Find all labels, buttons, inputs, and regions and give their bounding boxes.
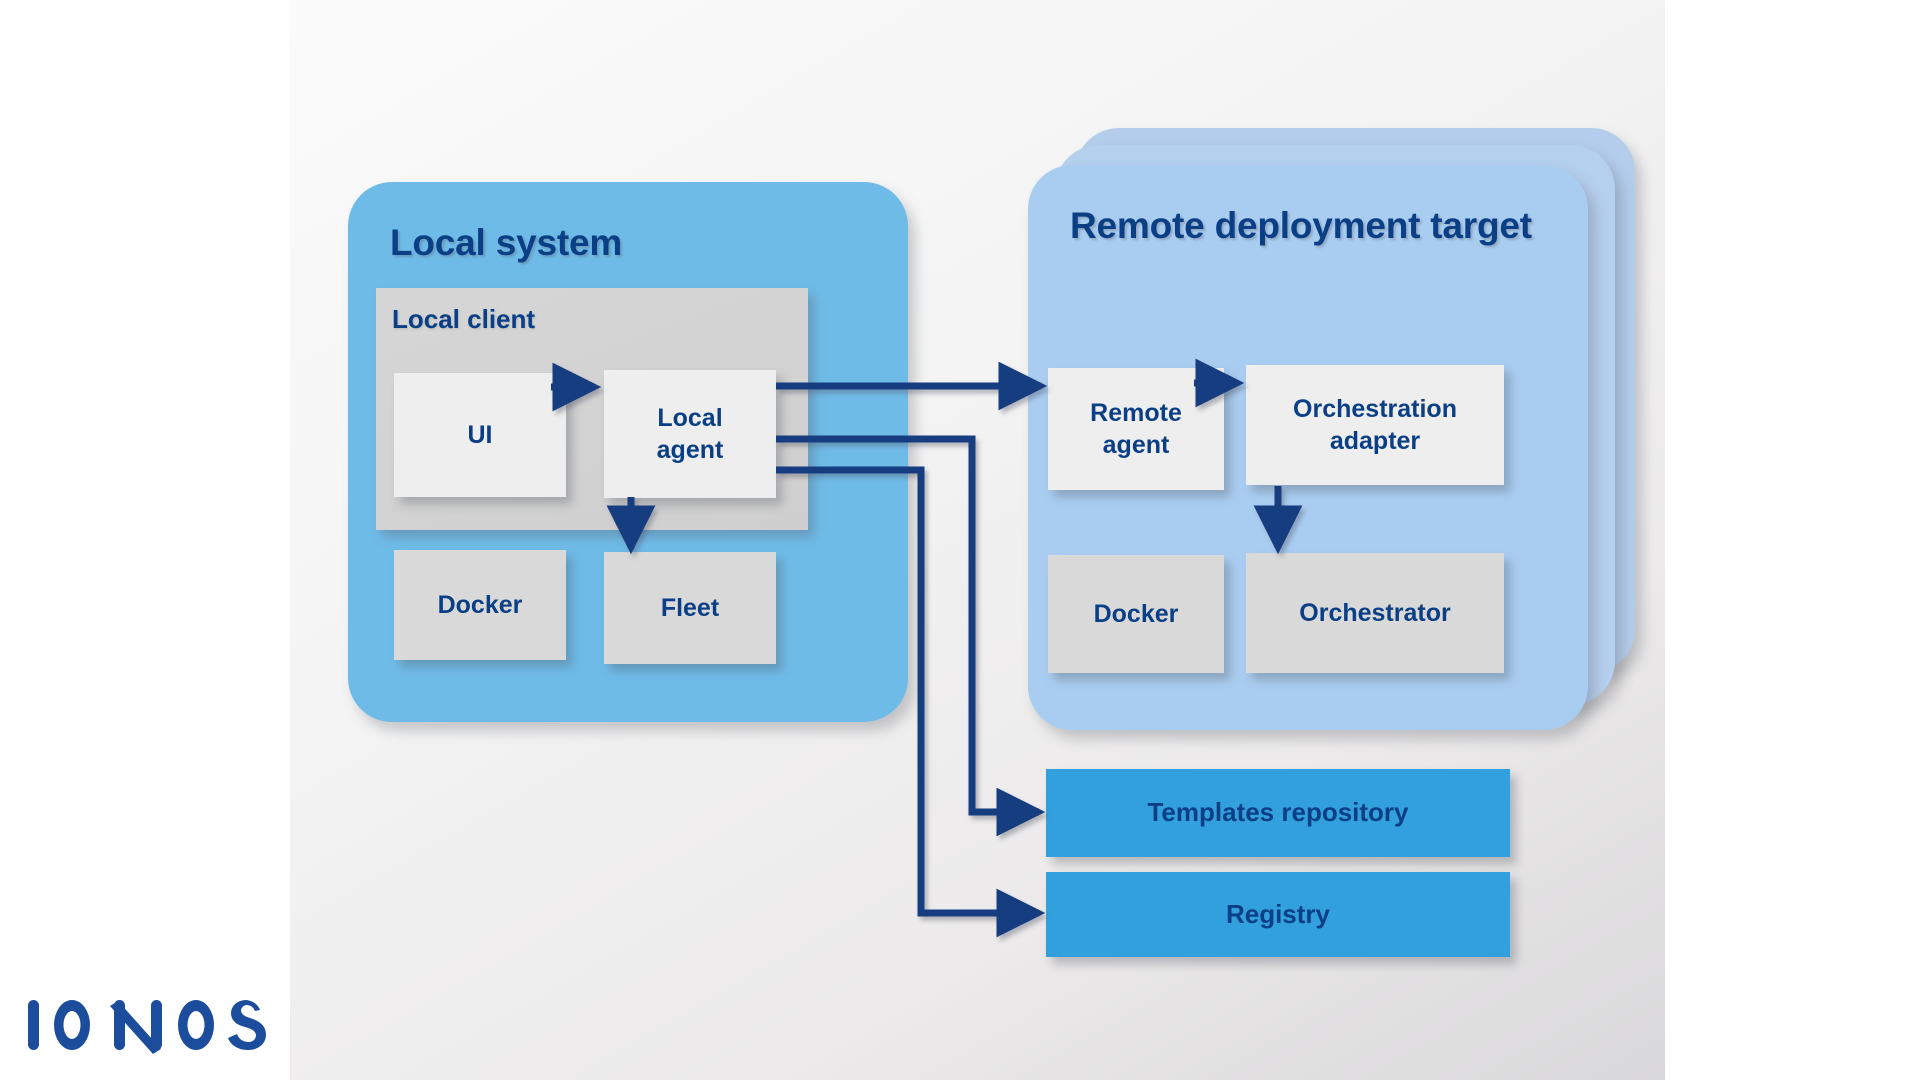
node-label-local-agent-line1: Local	[657, 404, 722, 432]
node-fleet[interactable]: Fleet	[604, 552, 776, 664]
node-label-local-agent: Local agent	[657, 402, 724, 466]
node-label-ui: UI	[468, 419, 493, 451]
node-label-orchestration-adapter-line1: Orchestration	[1293, 395, 1457, 423]
node-label-remote-agent-line2: agent	[1103, 431, 1170, 459]
node-label-templates-repository: Templates repository	[1147, 796, 1408, 829]
node-label-fleet: Fleet	[661, 592, 719, 624]
node-orchestrator[interactable]: Orchestrator	[1246, 553, 1504, 673]
subgroup-title-local-client: Local client	[392, 304, 535, 335]
node-ui[interactable]: UI	[394, 373, 566, 497]
node-label-docker-remote: Docker	[1094, 598, 1179, 630]
node-label-orchestrator: Orchestrator	[1299, 597, 1450, 629]
node-label-orchestration-adapter-line2: adapter	[1330, 427, 1420, 455]
ionos-logo	[26, 992, 266, 1058]
node-label-docker-local: Docker	[438, 589, 523, 621]
slide-canvas: Local system Remote deployment target Lo…	[0, 0, 1920, 1080]
node-docker-local[interactable]: Docker	[394, 550, 566, 660]
node-label-remote-agent-line1: Remote	[1090, 399, 1182, 427]
node-label-registry: Registry	[1226, 898, 1330, 931]
node-label-orchestration-adapter: Orchestration adapter	[1293, 393, 1457, 457]
node-local-agent[interactable]: Local agent	[604, 370, 776, 498]
group-title-local-system: Local system	[390, 220, 860, 267]
node-label-local-agent-line2: agent	[657, 436, 724, 464]
node-templates-repository[interactable]: Templates repository	[1046, 769, 1510, 857]
node-docker-remote[interactable]: Docker	[1048, 555, 1224, 673]
node-remote-agent[interactable]: Remote agent	[1048, 368, 1224, 490]
node-orchestration-adapter[interactable]: Orchestration adapter	[1246, 365, 1504, 485]
node-registry[interactable]: Registry	[1046, 872, 1510, 957]
group-title-remote-deployment-target: Remote deployment target	[1070, 203, 1540, 250]
node-label-remote-agent: Remote agent	[1090, 397, 1182, 461]
